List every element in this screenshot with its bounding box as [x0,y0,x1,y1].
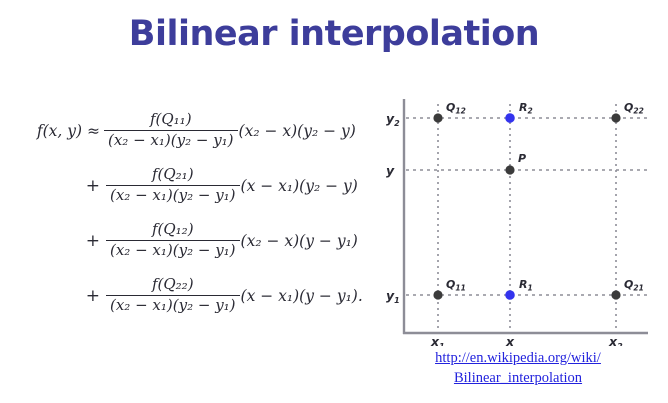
x-tick-label-x: x [505,334,515,346]
point-Q21 [611,290,620,299]
formula-row: + f(Q₂₁) (x₂ − x₁)(y₂ − y₁) (x − x₁)(y₂ … [8,158,378,213]
point-R1 [505,290,515,300]
formula-tail: (x₂ − x)(y − y₁) [240,232,358,250]
fraction-denominator: (x₂ − x₁)(y₂ − y₁) [106,296,240,315]
y-tick-label-y: y [386,163,395,178]
link-line-2: Bilinear_interpolation [382,369,654,389]
fraction-numerator: f(Q₁₁) [144,111,198,130]
fraction-denominator: (x₂ − x₁)(y₂ − y₁) [106,186,240,205]
formula-plus-sign: + [8,176,106,196]
point-label-Q21: Q21 [624,278,644,293]
point-label-R1: R1 [519,278,533,293]
formula-plus-sign: + [8,286,106,306]
formula-tail: (x − x₁)(y − y₁). [240,287,363,305]
y-tick-label-y1: y1 [386,288,400,305]
formula-lhs: f(x, y) ≈ [8,122,104,140]
point-label-Q11: Q11 [446,278,466,293]
point-Q11 [433,290,442,299]
bilinear-interpolation-diagram: Q12 R2 Q22 P Q11 R1 Q21 y2 y y1 x1 x x2 [382,90,654,346]
point-label-P: P [518,152,526,165]
point-Q12 [433,113,442,122]
y-tick-label-y2: y2 [386,111,400,128]
formula-fraction: f(Q₂₂) (x₂ − x₁)(y₂ − y₁) [106,276,240,314]
formula-tail: (x₂ − x)(y₂ − y) [238,122,356,140]
formula-row: + f(Q₂₂) (x₂ − x₁)(y₂ − y₁) (x − x₁)(y −… [8,268,378,323]
fraction-numerator: f(Q₂₁) [146,166,200,185]
bilinear-interpolation-formula: f(x, y) ≈ f(Q₁₁) (x₂ − x₁)(y₂ − y₁) (x₂ … [8,103,378,323]
fraction-denominator: (x₂ − x₁)(y₂ − y₁) [104,131,238,150]
fraction-denominator: (x₂ − x₁)(y₂ − y₁) [106,241,240,260]
formula-fraction: f(Q₁₂) (x₂ − x₁)(y₂ − y₁) [106,221,240,259]
formula-fraction: f(Q₁₁) (x₂ − x₁)(y₂ − y₁) [104,111,238,149]
point-label-Q12: Q12 [446,101,466,116]
x-tick-label-x2: x2 [608,334,623,346]
point-label-Q22: Q22 [624,101,644,116]
formula-row: f(x, y) ≈ f(Q₁₁) (x₂ − x₁)(y₂ − y₁) (x₂ … [8,103,378,158]
x-tick-label-x1: x1 [430,334,445,346]
formula-fraction: f(Q₂₁) (x₂ − x₁)(y₂ − y₁) [106,166,240,204]
wikipedia-source-link[interactable]: http://en.wikipedia.org/wiki/ Bilinear_i… [382,349,654,388]
point-Q22 [611,113,620,122]
point-R2 [505,113,515,123]
formula-tail: (x − x₁)(y₂ − y) [240,177,358,195]
formula-row: + f(Q₁₂) (x₂ − x₁)(y₂ − y₁) (x₂ − x)(y −… [8,213,378,268]
formula-plus-sign: + [8,231,106,251]
point-label-R2: R2 [519,101,533,116]
fraction-numerator: f(Q₁₂) [146,221,200,240]
point-P [505,165,514,174]
link-line-1: http://en.wikipedia.org/wiki/ [382,349,654,369]
fraction-numerator: f(Q₂₂) [146,276,200,295]
page-title: Bilinear interpolation [0,14,668,54]
